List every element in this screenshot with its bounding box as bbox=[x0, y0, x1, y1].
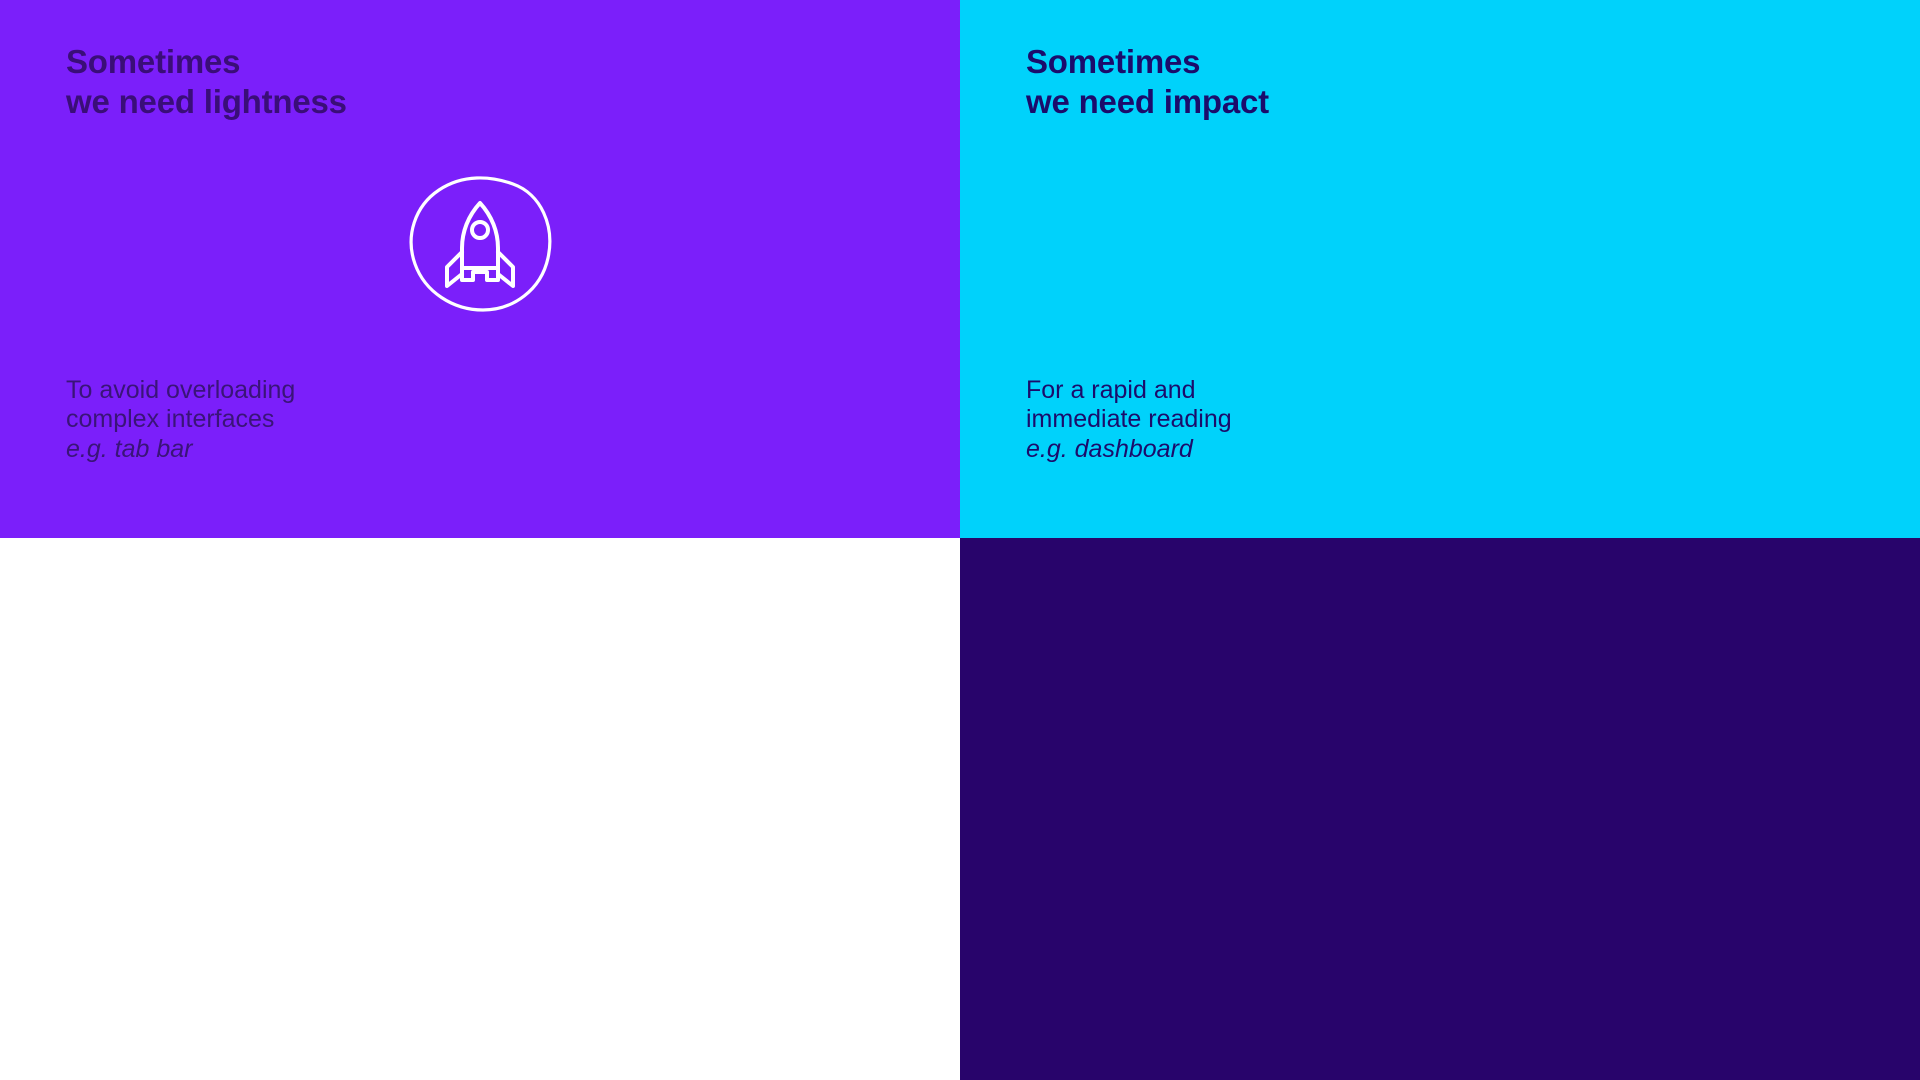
lightness-body: To avoid overloading complex interfaces … bbox=[66, 376, 295, 464]
impact-body: For a rapid and immediate reading e.g. d… bbox=[1026, 376, 1232, 464]
panel-tabbar-example bbox=[0, 538, 960, 1080]
impact-headline: Sometimes we need impact bbox=[1026, 42, 1269, 123]
lightness-body-line2: complex interfaces bbox=[66, 405, 295, 434]
lightness-body-example: e.g. tab bar bbox=[66, 435, 295, 464]
impact-body-line2: immediate reading bbox=[1026, 405, 1232, 434]
panel-impact: Sometimes we need impact For a rapid and… bbox=[960, 0, 1920, 538]
impact-body-line1: For a rapid and bbox=[1026, 376, 1232, 405]
impact-body-example: e.g. dashboard bbox=[1026, 435, 1232, 464]
rocket-outline-icon bbox=[395, 168, 565, 318]
panel-lightness: Sometimes we need lightness To avoid ove… bbox=[0, 0, 960, 538]
lightness-body-line1: To avoid overloading bbox=[66, 376, 295, 405]
slide-canvas: Sometimes we need lightness To avoid ove… bbox=[0, 0, 1920, 1080]
lightness-headline: Sometimes we need lightness bbox=[66, 42, 347, 123]
panel-dashboard-example bbox=[960, 538, 1920, 1080]
